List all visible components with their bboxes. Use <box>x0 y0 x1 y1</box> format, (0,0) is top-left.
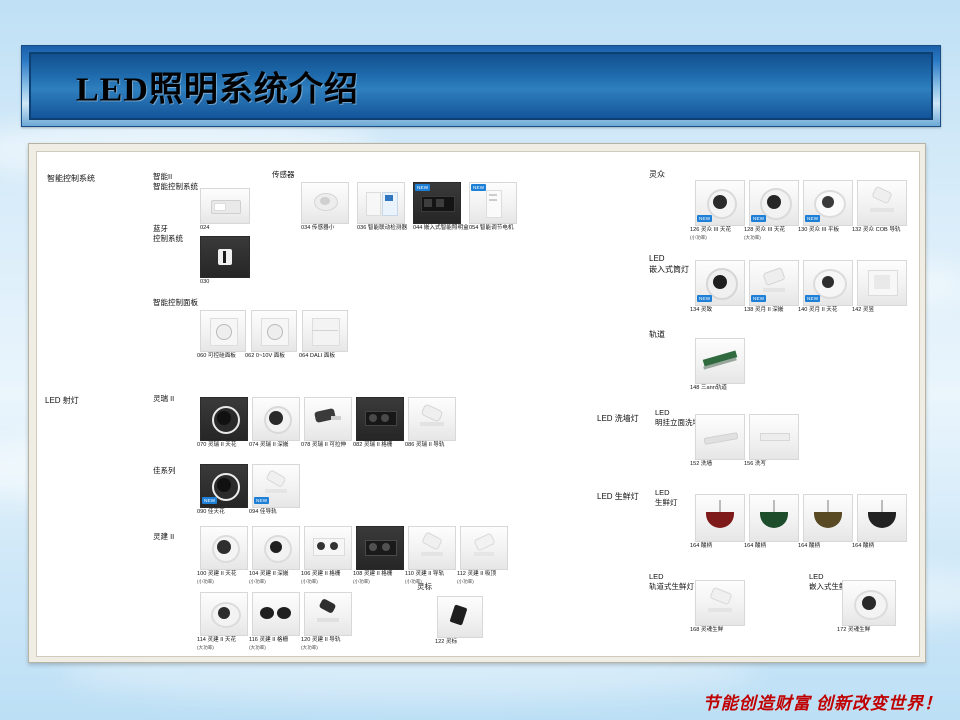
caption-130: 130 灵众 III 平板 <box>798 227 839 235</box>
new-badge: NEW <box>254 497 269 504</box>
section-led-wallwasher: LED 洗墙灯 <box>597 414 639 425</box>
group-jia-series: 佳系列 <box>153 466 176 476</box>
caption-168: 168 灵魂生鲜 <box>690 627 723 635</box>
caption-120: 120 灵建 II 导轨(大功率) <box>301 637 341 652</box>
slide-title-bar: LED照明系统介绍 <box>21 45 941 127</box>
product-catalog-board: 智能控制系统 智能II 智能控制系统 传感器 024 蓝牙 控制系统 030 <box>28 143 926 663</box>
product-thumb-114[interactable] <box>200 592 246 634</box>
caption-094: 094 佳导轨 <box>249 509 277 517</box>
caption-104: 104 灵建 II 深嵌(小功率) <box>249 571 289 586</box>
new-badge: NEW <box>805 215 820 222</box>
caption-060: 060 可控硅面板 <box>197 353 236 361</box>
caption-172: 172 灵魂生鲜 <box>837 627 870 635</box>
caption-128: 128 灵众 III 天花(大功率) <box>744 227 785 242</box>
footer-slogan: 节能创造财富 创新改变世界！ <box>703 689 942 714</box>
section-track: 轨道 <box>649 330 665 341</box>
section-led-spotlight: LED 射灯 <box>45 396 79 407</box>
caption-164-b: 164 酸柄 <box>744 543 766 551</box>
caption-122: 122 灵标 <box>435 639 457 647</box>
product-thumb-168[interactable] <box>695 580 743 624</box>
product-thumb-078[interactable] <box>304 397 350 439</box>
product-thumb-130[interactable]: NEW <box>803 180 851 224</box>
product-thumb-074[interactable] <box>252 397 298 439</box>
product-thumb-132[interactable] <box>857 180 905 224</box>
caption-024: 024 <box>200 225 209 233</box>
new-badge: NEW <box>751 295 766 302</box>
caption-112: 112 灵建 II 吸顶(小功率) <box>457 571 496 586</box>
new-badge: NEW <box>697 215 712 222</box>
section-led-fresh: LED 生鲜灯 <box>597 492 639 503</box>
product-thumb-148[interactable] <box>695 338 743 382</box>
caption-062: 062 0~10V 面板 <box>245 353 285 361</box>
product-thumb-090[interactable]: NEW <box>200 464 246 506</box>
caption-086: 086 灵瑞 II 导轨 <box>405 442 445 450</box>
caption-106: 106 灵建 II 格栅(小功率) <box>301 571 341 586</box>
caption-070: 070 灵瑞 II 天花 <box>197 442 237 450</box>
caption-078: 078 灵瑞 II 可拉伸 <box>301 442 346 450</box>
caption-044: 044 嵌入式智能照明盒 <box>413 225 469 233</box>
page-title: LED照明系统介绍 <box>76 62 359 111</box>
product-thumb-126[interactable]: NEW <box>695 180 743 224</box>
group-smart-control: 智能II 智能控制系统 <box>153 172 198 192</box>
caption-114: 114 灵建 II 天花(大功率) <box>197 637 236 652</box>
product-thumb-134[interactable]: NEW <box>695 260 743 304</box>
product-thumb-112[interactable] <box>460 526 506 568</box>
product-thumb-094[interactable]: NEW <box>252 464 298 506</box>
product-thumb-142[interactable] <box>857 260 905 304</box>
caption-126: 126 灵众 III 天花(小功率) <box>690 227 731 242</box>
new-badge: NEW <box>805 295 820 302</box>
caption-108: 108 灵建 II 格栅(小功率) <box>353 571 393 586</box>
caption-082: 082 灵瑞 II 格栅 <box>353 442 393 450</box>
product-thumb-164-b[interactable] <box>749 494 797 540</box>
product-thumb-164-c[interactable] <box>803 494 851 540</box>
product-thumb-138[interactable]: NEW <box>749 260 797 304</box>
label-sensor: 传感器 <box>272 170 295 180</box>
product-thumb-062[interactable] <box>251 310 295 350</box>
section-led-recessed: LED 嵌入式筒灯 <box>649 254 689 276</box>
product-thumb-110[interactable] <box>408 526 454 568</box>
new-badge: NEW <box>697 295 712 302</box>
caption-034: 034 传感器小 <box>301 225 334 233</box>
product-thumb-044[interactable]: NEW <box>413 182 459 222</box>
section-lingzhong: 灵众 <box>649 170 665 181</box>
product-thumb-082[interactable] <box>356 397 402 439</box>
catalog-sheet: 智能控制系统 智能II 智能控制系统 传感器 024 蓝牙 控制系统 030 <box>36 151 920 657</box>
product-thumb-152[interactable] <box>695 414 743 458</box>
group-lingbiao: 灵标 <box>417 582 432 592</box>
product-thumb-024[interactable] <box>200 188 248 222</box>
caption-030: 030 <box>200 279 209 287</box>
product-thumb-156[interactable] <box>749 414 797 458</box>
product-thumb-086[interactable] <box>408 397 454 439</box>
slide-title-inner: LED照明系统介绍 <box>29 52 933 120</box>
product-thumb-120[interactable] <box>304 592 350 634</box>
caption-064: 064 DALI 面板 <box>299 353 335 361</box>
product-thumb-108[interactable] <box>356 526 402 568</box>
caption-036: 036 智能联动检测器 <box>357 225 407 233</box>
caption-140: 140 灵月 II 天花 <box>798 307 838 315</box>
product-thumb-036[interactable] <box>357 182 403 222</box>
caption-100: 100 灵建 II 天花(小功率) <box>197 571 237 586</box>
product-thumb-100[interactable] <box>200 526 246 568</box>
caption-164-d: 164 酸柄 <box>852 543 874 551</box>
product-thumb-164-d[interactable] <box>857 494 905 540</box>
group-bluetooth: 蓝牙 控制系统 <box>153 224 183 244</box>
new-badge: NEW <box>202 497 217 504</box>
product-thumb-140[interactable]: NEW <box>803 260 851 304</box>
product-thumb-172[interactable] <box>842 580 894 624</box>
group-led-fresh: LED 生鲜灯 <box>655 488 678 508</box>
product-thumb-034[interactable] <box>301 182 347 222</box>
product-thumb-128[interactable]: NEW <box>749 180 797 224</box>
caption-148: 148 三ann轨道 <box>690 385 727 393</box>
group-smart-panel: 智能控制面板 <box>153 298 198 308</box>
product-thumb-122[interactable] <box>437 596 481 636</box>
caption-054: 054 智能调节电机 <box>469 225 513 233</box>
caption-074: 074 灵瑞 II 深嵌 <box>249 442 289 450</box>
product-thumb-064[interactable] <box>302 310 346 350</box>
caption-132: 132 灵众 COB 导轨 <box>852 227 901 235</box>
group-lingjian: 灵建 II <box>153 532 174 542</box>
product-thumb-030[interactable] <box>200 236 248 276</box>
product-thumb-164-a[interactable] <box>695 494 743 540</box>
caption-142: 142 灵昱 <box>852 307 874 315</box>
caption-116: 116 灵建 II 格栅(大功率) <box>249 637 288 652</box>
caption-138: 138 灵月 II 深嵌 <box>744 307 784 315</box>
new-badge: NEW <box>751 215 766 222</box>
new-badge: NEW <box>471 184 486 191</box>
product-thumb-070[interactable] <box>200 397 246 439</box>
caption-156: 156 洗写 <box>744 461 766 469</box>
caption-134: 134 灵致 <box>690 307 712 315</box>
caption-090: 090 佳天花 <box>197 509 225 517</box>
product-thumb-106[interactable] <box>304 526 350 568</box>
caption-152: 152 洗墙 <box>690 461 712 469</box>
section-smart-control-system: 智能控制系统 <box>47 174 95 185</box>
caption-164-c: 164 酸柄 <box>798 543 820 551</box>
product-thumb-060[interactable] <box>200 310 244 350</box>
caption-164-a: 164 酸柄 <box>690 543 712 551</box>
group-track-fresh: LED 轨道式生鲜灯 <box>649 572 694 592</box>
group-lingrui: 灵瑞 II <box>153 394 174 404</box>
product-thumb-116[interactable] <box>252 592 298 634</box>
product-thumb-104[interactable] <box>252 526 298 568</box>
new-badge: NEW <box>415 184 430 191</box>
product-thumb-054[interactable]: NEW <box>469 182 515 222</box>
